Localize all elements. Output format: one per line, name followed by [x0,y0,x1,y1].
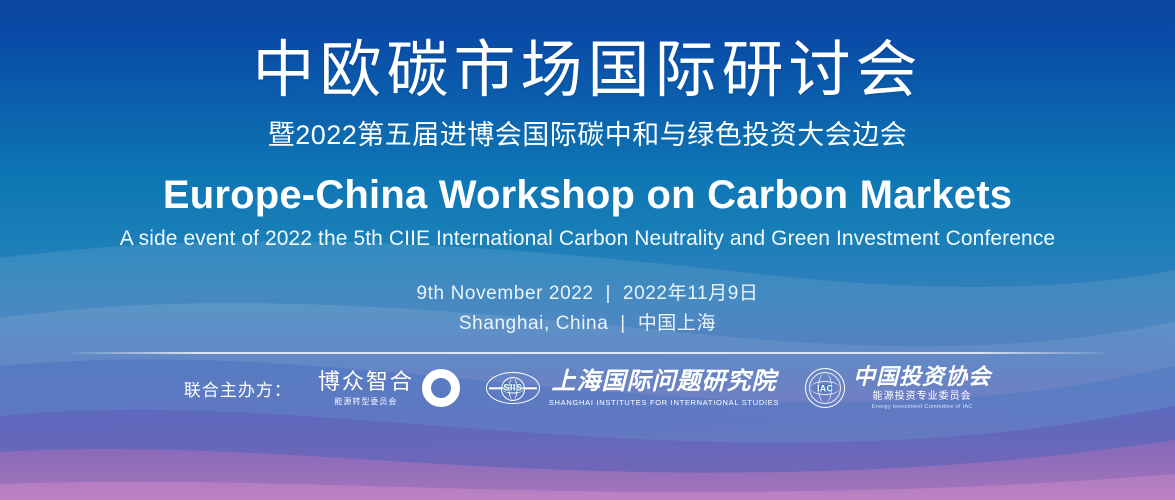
sponsor-logo-bozhong: 博众智合 能源转型委员会 [318,369,460,407]
iac-name-sub: 能源投资专业委员会 [853,388,991,402]
siis-text: 上海国际问题研究院 SHANGHAI INSTITUTES FOR INTERN… [549,370,779,407]
bozhong-name-sub: 能源转型委员会 [318,393,414,406]
date-chinese: 2022年11月9日 [623,283,759,304]
date-english: 9th November 2022 [417,283,594,304]
co-organizers-label: 联合主办方： [184,376,292,401]
iac-name-en: Energy Investment Committee of IAC [853,402,991,411]
meta-separator-2: | [614,313,632,334]
event-meta: 9th November 2022 | 2022年11月9日 Shanghai,… [0,251,1175,338]
bozhong-name-cn: 博众智合 [318,371,414,393]
divider-line [70,352,1105,354]
iac-name-cn: 中国投资协会 [853,366,991,388]
subtitle-english: A side event of 2022 the 5th CIIE Intern… [0,217,1175,251]
sponsor-logo-iac: IAC 中国投资协会 能源投资专业委员会 Energy Investment C… [805,366,991,411]
siis-acronym: SIIS [502,384,523,393]
location-english: Shanghai, China [459,313,609,334]
iac-text: 中国投资协会 能源投资专业委员会 Energy Investment Commi… [853,366,991,411]
banner-content: 中欧碳市场国际研讨会 暨2022第五届进博会国际碳中和与绿色投资大会边会 Eur… [0,0,1175,338]
title-english: Europe-China Workshop on Carbon Markets [0,151,1175,217]
c-ring-icon [422,369,460,407]
bozhong-text: 博众智合 能源转型委员会 [318,371,414,406]
meta-separator-1: | [599,283,617,304]
iac-globe-icon: IAC [805,368,845,408]
event-banner: 中欧碳市场国际研讨会 暨2022第五届进博会国际碳中和与绿色投资大会边会 Eur… [0,0,1175,500]
iac-acronym: IAC [817,385,833,394]
sponsor-row: 联合主办方： 博众智合 能源转型委员会 SIIS 上海国际问题研究院 SHANG… [0,366,1175,411]
sponsor-logo-siis: SIIS 上海国际问题研究院 SHANGHAI INSTITUTES FOR I… [486,370,779,407]
title-chinese: 中欧碳市场国际研讨会 [0,0,1175,105]
location-chinese: 中国上海 [638,313,716,334]
siis-globe-icon: SIIS [486,372,540,404]
siis-name-cn: 上海国际问题研究院 [549,370,779,394]
subtitle-chinese: 暨2022第五届进博会国际碳中和与绿色投资大会边会 [0,105,1175,151]
siis-name-en: SHANGHAI INSTITUTES FOR INTERNATIONAL ST… [549,394,779,407]
